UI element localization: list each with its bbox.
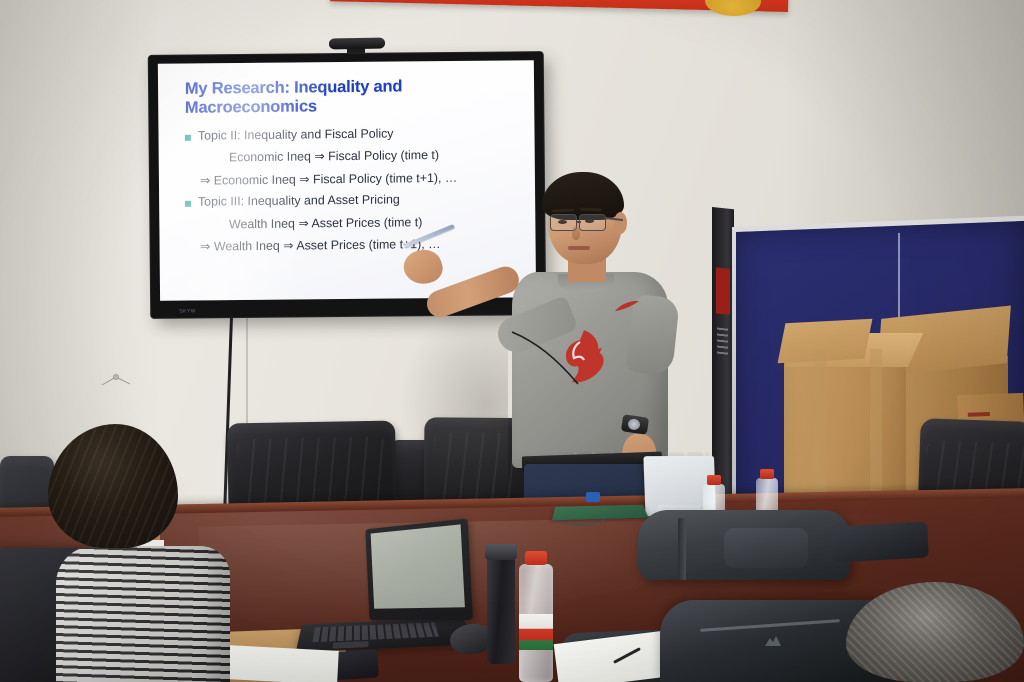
duffel-bag[interactable]	[638, 510, 850, 580]
slide-subline-2b: ⇒ Wealth Ineq ⇒ Asset Prices (time t+1),…	[185, 237, 515, 256]
bullet-square-icon	[185, 135, 191, 141]
dark-pouch[interactable]	[831, 522, 929, 563]
microphone-cable	[510, 330, 580, 386]
presenter-hair	[542, 172, 624, 220]
presenter-mouth	[568, 246, 590, 250]
slide-body: Topic II: Inequality and Fiscal Policy E…	[185, 125, 515, 256]
bag-pocket	[724, 528, 808, 568]
eyeglasses-bridge	[576, 221, 581, 223]
laptop-keyboard[interactable]	[312, 622, 439, 642]
attendee-front-right	[846, 582, 1024, 682]
attendee-grey-hair	[846, 582, 1024, 682]
attendee-hair	[48, 424, 178, 548]
water-bottle-foreground[interactable]	[519, 564, 553, 682]
blue-connector	[586, 492, 600, 502]
laptop-screen-back	[371, 524, 465, 608]
slide-bullet-1-text: Topic II: Inequality and Fiscal Policy	[198, 126, 394, 144]
backpack-zipper	[700, 619, 840, 632]
hair-texture	[48, 424, 178, 548]
board-side-sticker	[716, 267, 730, 314]
board-side-markings	[717, 328, 728, 359]
nike-swoosh-icon	[614, 300, 640, 312]
slide-subline-1b: ⇒ Economic Ineq ⇒ Fiscal Policy (time t+…	[185, 170, 515, 189]
laptop-trackpad[interactable]	[333, 641, 369, 649]
bottle-cap	[525, 551, 547, 565]
bag-strap	[678, 518, 686, 580]
hair-texture	[846, 582, 1024, 682]
bottle-label	[519, 614, 553, 650]
wall-seam	[246, 318, 248, 438]
webcam-icon	[329, 38, 385, 50]
display-brand-label: SKYW	[179, 308, 196, 314]
thermos-cap	[485, 544, 517, 560]
slide-bullet-2: Topic III: Inequality and Asset Pricing	[185, 192, 515, 211]
slide-subline-1a: Economic Ineq ⇒ Fiscal Policy (time t)	[185, 148, 515, 167]
panel-cable	[552, 504, 608, 526]
shirt-shading	[56, 546, 230, 682]
bottle-cap	[707, 475, 721, 485]
slide-bullet-1: Topic II: Inequality and Fiscal Policy	[185, 125, 515, 144]
chair-leather-folds	[237, 436, 386, 508]
attendee-striped-shirt	[56, 546, 230, 682]
laptop-keyboard-base[interactable]	[296, 618, 475, 652]
slide-subline-2a: Wealth Ineq ⇒ Asset Prices (time t)	[185, 214, 515, 233]
laptop-lid	[365, 518, 473, 620]
watch-face	[627, 418, 640, 431]
bullet-square-icon	[185, 201, 191, 207]
papers[interactable]	[227, 645, 339, 682]
presenter-ear	[614, 212, 627, 234]
attendee-front-left	[30, 424, 230, 682]
box-marking	[968, 412, 990, 417]
slide-title: My Research: Inequality and Macroeconomi…	[185, 77, 455, 119]
photo-scene: My Research: Inequality and Macroeconomi…	[0, 0, 1024, 682]
eyeglasses-icon	[579, 214, 606, 231]
bottle-cap	[760, 469, 774, 479]
presenter-nose	[572, 226, 580, 240]
wristwatch	[621, 414, 649, 434]
laptop[interactable]	[300, 524, 470, 656]
thermos-flask[interactable]	[487, 556, 515, 664]
slide-bullet-2-text: Topic III: Inequality and Asset Pricing	[198, 193, 400, 211]
backpack-logo-icon	[764, 634, 782, 646]
wall-hook-icon	[100, 373, 134, 387]
